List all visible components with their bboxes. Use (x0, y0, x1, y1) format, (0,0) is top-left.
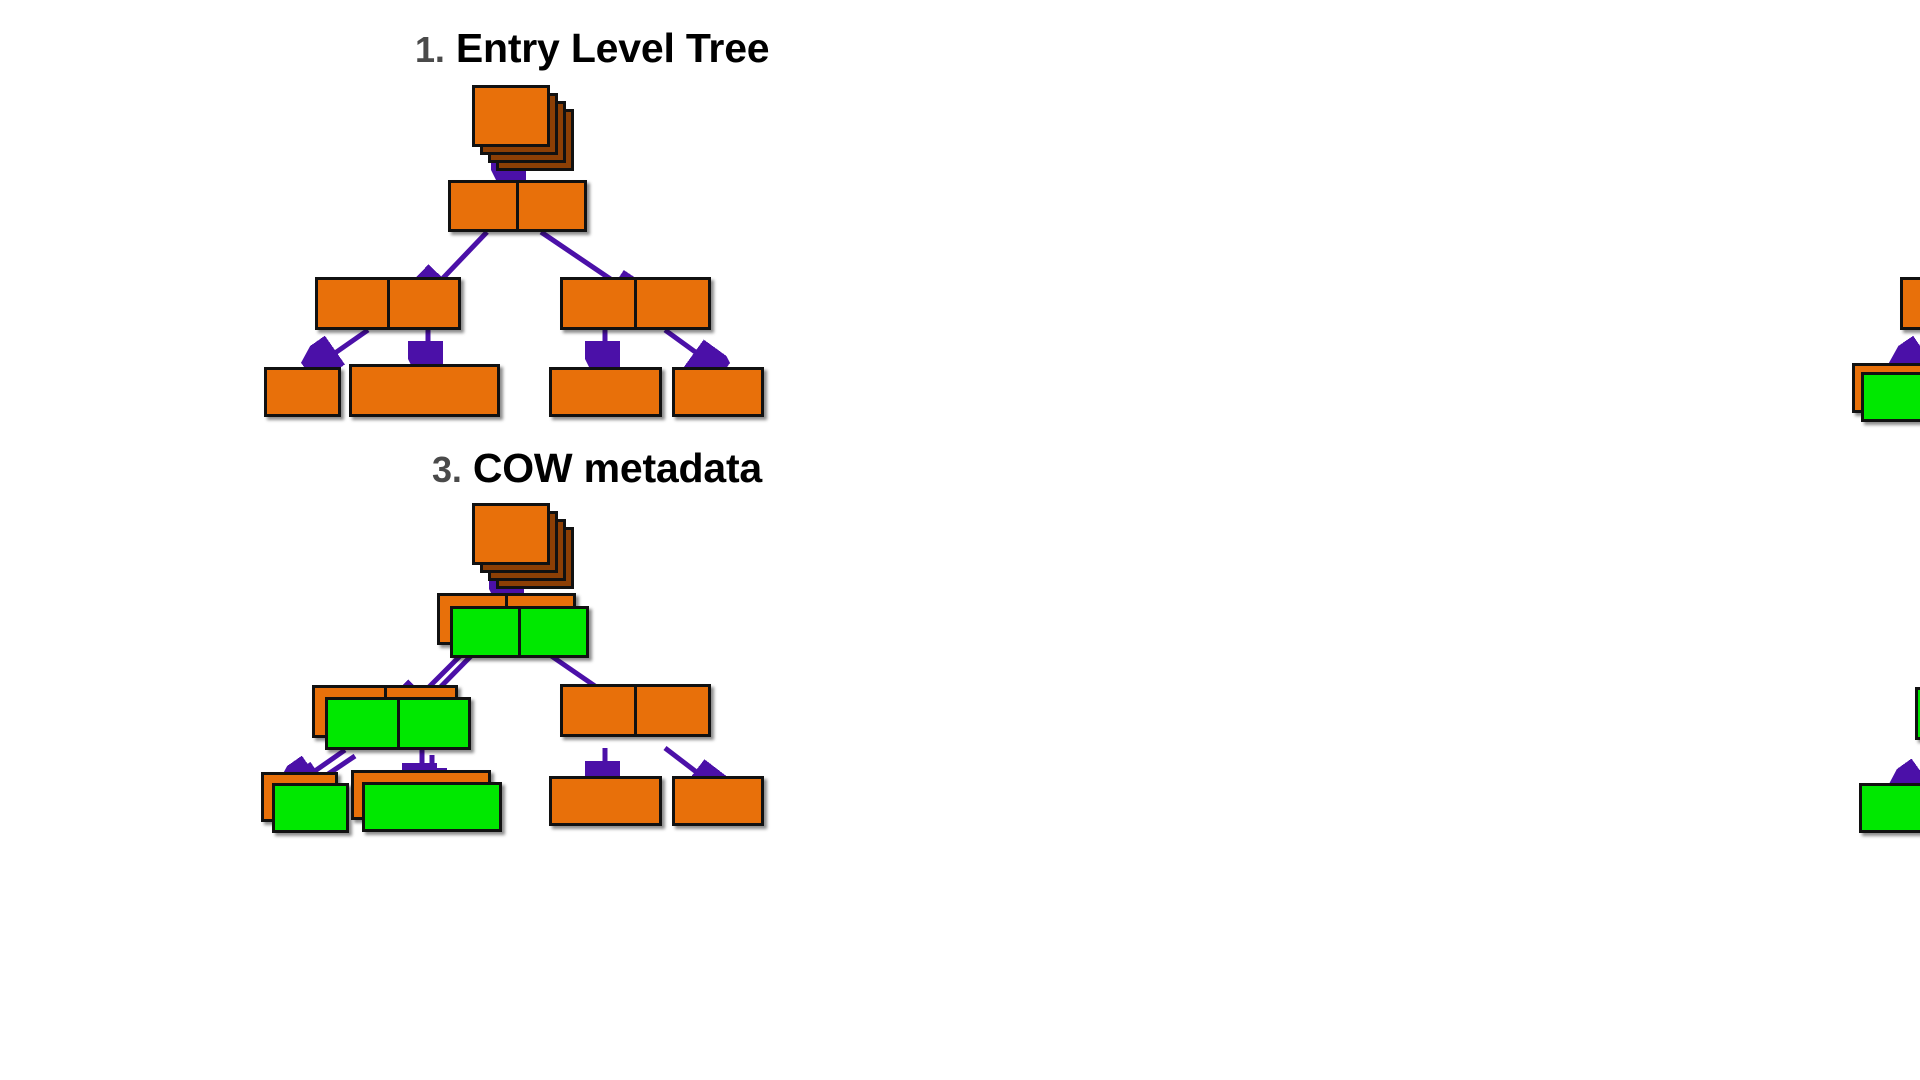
panel-1-title: 1. Entry Level Tree (415, 25, 769, 72)
panel-3-leaf-4[interactable] (672, 776, 764, 826)
panel-3-child-left-new (325, 697, 471, 750)
panel-1-leaf-3[interactable] (549, 367, 662, 417)
panel-3-number: 3. (432, 449, 462, 490)
uberblock-layer-1 (472, 85, 550, 147)
panel-1-leaf-4[interactable] (672, 367, 764, 417)
panel-1-child-node-left[interactable] (315, 277, 461, 330)
panel-some-cow-data: 2. Some COW Data (960, 0, 1920, 540)
panel-3-child-node-right[interactable] (560, 684, 711, 737)
panel-1-root-node[interactable] (448, 180, 587, 232)
panel-3-leaf-3[interactable] (549, 776, 662, 826)
panel-1-child-node-right[interactable] (560, 277, 711, 330)
panel-3-leaf-2-new (362, 782, 502, 832)
panel-2-leaf-1-new (1861, 372, 1920, 422)
panel-1-leaf-2[interactable] (349, 364, 500, 417)
panel-4-leaf-1[interactable] (1859, 783, 1920, 833)
panel-3-title: 3. COW metadata (432, 445, 762, 492)
panel-2-child-node-left[interactable] (1900, 277, 1920, 330)
panel-cow-metadata: 3. COW metadata (0, 540, 960, 1080)
panel-3-root-new (450, 606, 589, 658)
panel-uberblock-update: 4. Uberblock Update (960, 540, 1920, 1080)
panel-1-leaf-1[interactable] (264, 367, 341, 417)
diagram-canvas: 1. Entry Level Tree (0, 0, 1920, 1080)
panel-3-title-text: COW metadata (473, 445, 762, 491)
panel-4-child-node-left[interactable] (1915, 687, 1920, 740)
panel-1-title-text: Entry Level Tree (456, 25, 770, 71)
panel-1-number: 1. (415, 29, 445, 70)
panel-3-leaf-1-new (272, 783, 349, 833)
uberblock-layer-1 (472, 503, 550, 565)
